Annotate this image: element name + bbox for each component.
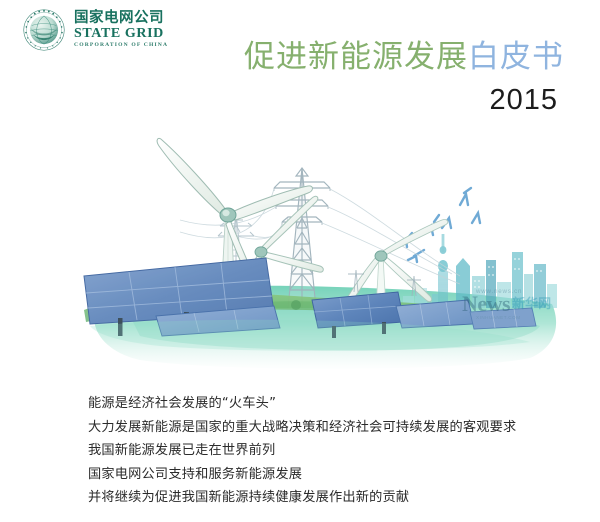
new-energy-watercolor-scene bbox=[60, 60, 580, 370]
statement-line: 能源是经济社会发展的“火车头” bbox=[88, 392, 588, 416]
statement-line: 大力发展新能源是国家的重大战略决策和经济社会可持续发展的客观要求 bbox=[88, 416, 588, 440]
whitepaper-cover-page: 国家电网公司 STATE GRID CORPORATION OF CHINA 促… bbox=[0, 0, 600, 522]
brand-name-cn: 国家电网公司 bbox=[74, 11, 168, 26]
brand-subtitle-en: CORPORATION OF CHINA bbox=[74, 43, 168, 49]
state-grid-wordmark: 国家电网公司 STATE GRID CORPORATION OF CHINA bbox=[74, 11, 168, 49]
statement-line: 国家电网公司支持和服务新能源发展 bbox=[88, 463, 588, 487]
statement-line: 我国新能源发展已走在世界前列 bbox=[88, 439, 588, 463]
statement-line: 并将继续为促进我国新能源持续健康发展作出新的贡献 bbox=[88, 486, 588, 510]
state-grid-globe-emblem-icon bbox=[22, 8, 66, 52]
brand-name-en: STATE GRID bbox=[74, 27, 168, 41]
state-grid-logo: 国家电网公司 STATE GRID CORPORATION OF CHINA bbox=[22, 8, 168, 52]
cover-statement-block: 能源是经济社会发展的“火车头” 大力发展新能源是国家的重大战略决策和经济社会可持… bbox=[88, 392, 588, 510]
